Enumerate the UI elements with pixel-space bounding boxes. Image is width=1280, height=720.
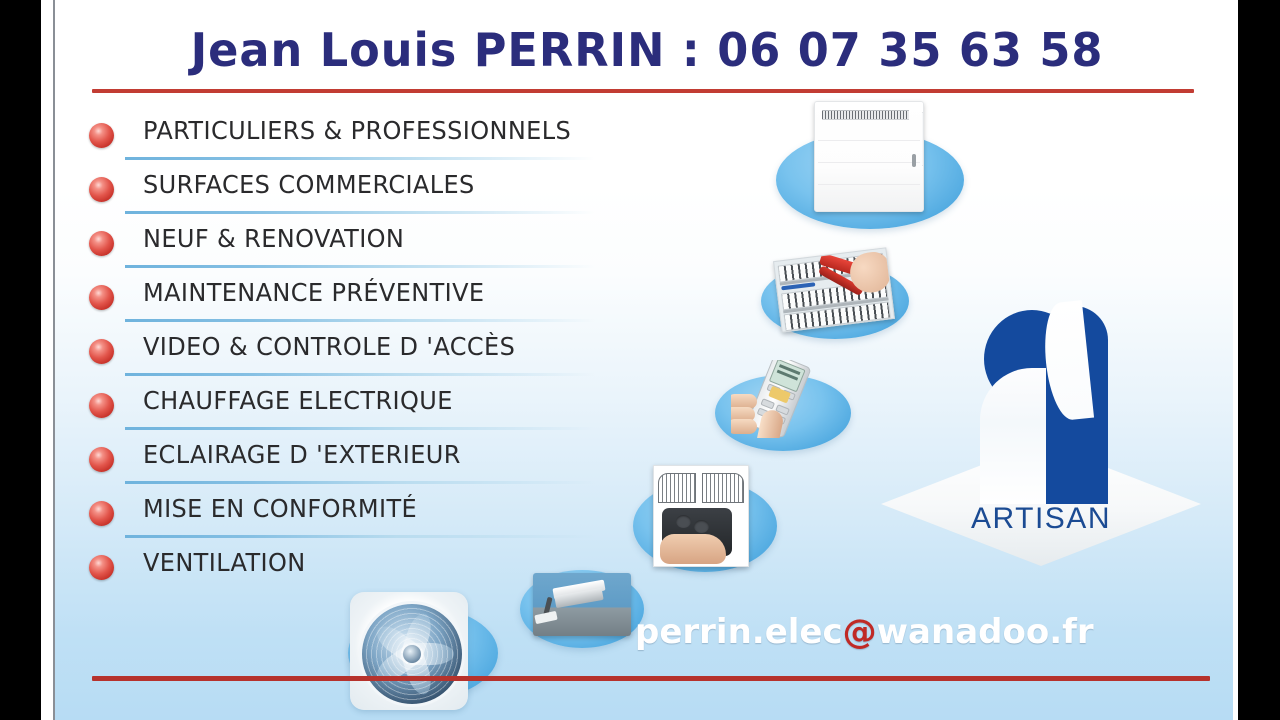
email-address[interactable]: perrin.elec@wanadoo.fr [635,612,1094,652]
red-sphere-bullet-icon [89,231,114,256]
breaker-panel-photo [773,247,895,332]
service-label: SURFACES COMMERCIALES [143,170,475,199]
red-sphere-bullet-icon [89,123,114,148]
heater-panel-line [818,140,920,141]
service-label: ECLAIRAGE D 'EXTERIEUR [143,440,461,469]
page-gutter-left [41,0,53,720]
red-sphere-bullet-icon [89,501,114,526]
service-label: VENTILATION [143,548,306,577]
page-gutter-right [1233,0,1238,720]
electric-heater-photo [814,101,924,212]
ac-remote-photo [731,360,837,438]
fan-hub [403,645,421,663]
service-divider [125,211,595,214]
at-symbol-icon: @ [843,612,877,652]
heater-knob [912,154,916,167]
service-divider [125,157,595,160]
heater-side-tab [922,112,924,166]
red-sphere-bullet-icon [89,339,114,364]
security-camera-photo [533,573,631,636]
service-label: NEUF & RENOVATION [143,224,404,253]
list-item[interactable]: CHAUFFAGE ELECTRIQUE [55,382,755,436]
heater-grille [822,110,909,120]
camera-wall-mount [534,611,557,624]
flyer-card: Jean Louis PERRIN : 06 07 35 63 58 PARTI… [55,0,1233,720]
red-sphere-bullet-icon [89,555,114,580]
screenshot-root: Jean Louis PERRIN : 06 07 35 63 58 PARTI… [0,0,1280,720]
gate-remote-photo [653,465,749,567]
red-sphere-bullet-icon [89,393,114,418]
email-local-part: perrin.elec [635,612,843,652]
artisan-logo: ARTISAN [881,306,1201,568]
service-divider [125,535,595,538]
service-divider [125,265,595,268]
red-sphere-bullet-icon [89,285,114,310]
service-label: VIDEO & CONTROLE D 'ACCÈS [143,332,515,361]
hand [660,534,726,564]
header-divider [92,89,1194,93]
list-item[interactable]: NEUF & RENOVATION [55,220,755,274]
artisan-logo-label: ARTISAN [881,502,1201,536]
list-item[interactable]: MAINTENANCE PRÉVENTIVE [55,274,755,328]
ventilation-fan-photo [350,592,468,710]
service-label: PARTICULIERS & PROFESSIONNELS [143,116,571,145]
red-sphere-bullet-icon [89,177,114,202]
service-label: MAINTENANCE PRÉVENTIVE [143,278,484,307]
letterbox-left [0,0,41,720]
gate-illustration [654,466,748,508]
artisan-figure-icon [984,306,1108,504]
list-item[interactable]: ECLAIRAGE D 'EXTERIEUR [55,436,755,490]
footer-divider [92,676,1210,681]
service-divider [125,481,595,484]
list-item[interactable]: PARTICULIERS & PROFESSIONNELS [55,112,755,166]
service-divider [125,427,595,430]
hand [731,390,793,436]
list-item[interactable]: SURFACES COMMERCIALES [55,166,755,220]
heater-panel-line [818,162,920,163]
email-domain-part: wanadoo.fr [877,612,1094,652]
service-label: MISE EN CONFORMITÉ [143,494,417,523]
page-title: Jean Louis PERRIN : 06 07 35 63 58 [104,26,1190,74]
fan-housing [359,601,465,707]
service-label: CHAUFFAGE ELECTRIQUE [143,386,453,415]
list-item[interactable]: VIDEO & CONTROLE D 'ACCÈS [55,328,755,382]
red-sphere-bullet-icon [89,447,114,472]
service-divider [125,319,595,322]
service-divider [125,373,595,376]
letterbox-right [1238,0,1280,720]
heater-panel-line [818,184,920,185]
